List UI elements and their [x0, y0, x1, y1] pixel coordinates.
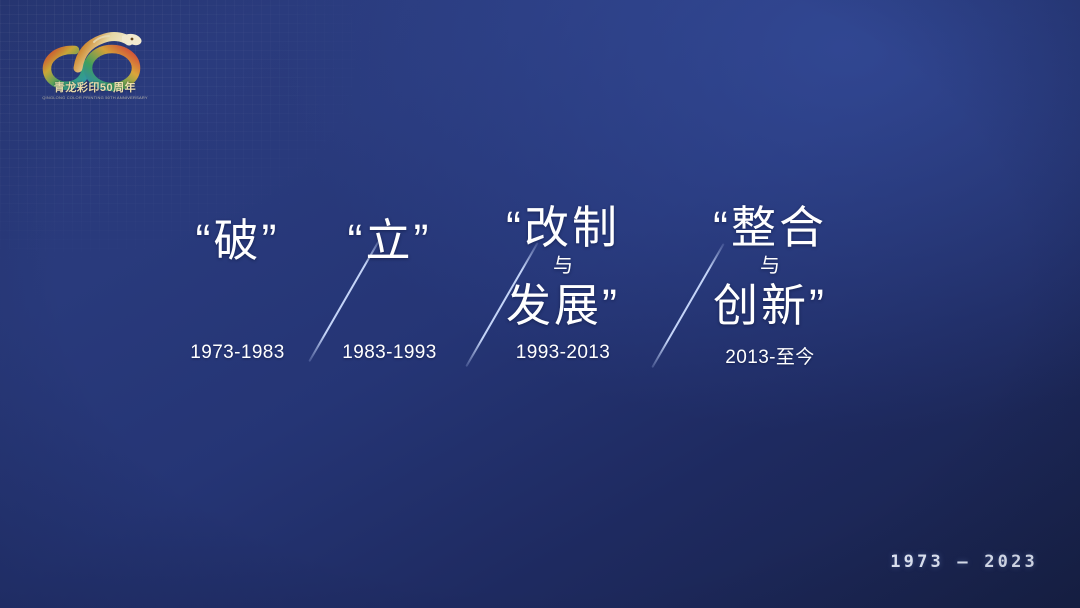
timeline-phase-gaizhi-fazhan[interactable]: “改制 与 发展” [473, 205, 653, 328]
slide-canvas: 青龙彩印50周年 QINGLONG COLOR PRINTING 50TH AN… [0, 0, 1080, 608]
phase-date-po: 1973-1983 [150, 342, 325, 364]
phase-title-line1: “破” [150, 218, 325, 263]
phase-date-zhenghe-chuangxin: 2013-至今 [680, 342, 860, 369]
phase-title-line2: 发展” [473, 283, 653, 328]
phase-date-li: 1983-1993 [302, 342, 477, 364]
phase-date-gaizhi-fazhan: 1993-2013 [473, 342, 653, 364]
phase-title-line2: 创新” [680, 283, 860, 328]
footer-year-range: 1973 — 2023 [890, 552, 1038, 572]
timeline-phase-li[interactable]: “立” [302, 218, 477, 263]
phase-conjunction: 与 [680, 256, 860, 276]
phase-title-line1: “立” [302, 218, 477, 263]
timeline-group: “破” 1973-1983 “立” 1983-1993 “改制 与 发展” 19… [0, 0, 1080, 608]
timeline-phase-po[interactable]: “破” [150, 218, 325, 263]
phase-title-line1: “整合 [680, 205, 860, 250]
phase-conjunction: 与 [473, 256, 653, 276]
phase-title-line1: “改制 [473, 205, 653, 250]
timeline-phase-zhenghe-chuangxin[interactable]: “整合 与 创新” [680, 205, 860, 328]
